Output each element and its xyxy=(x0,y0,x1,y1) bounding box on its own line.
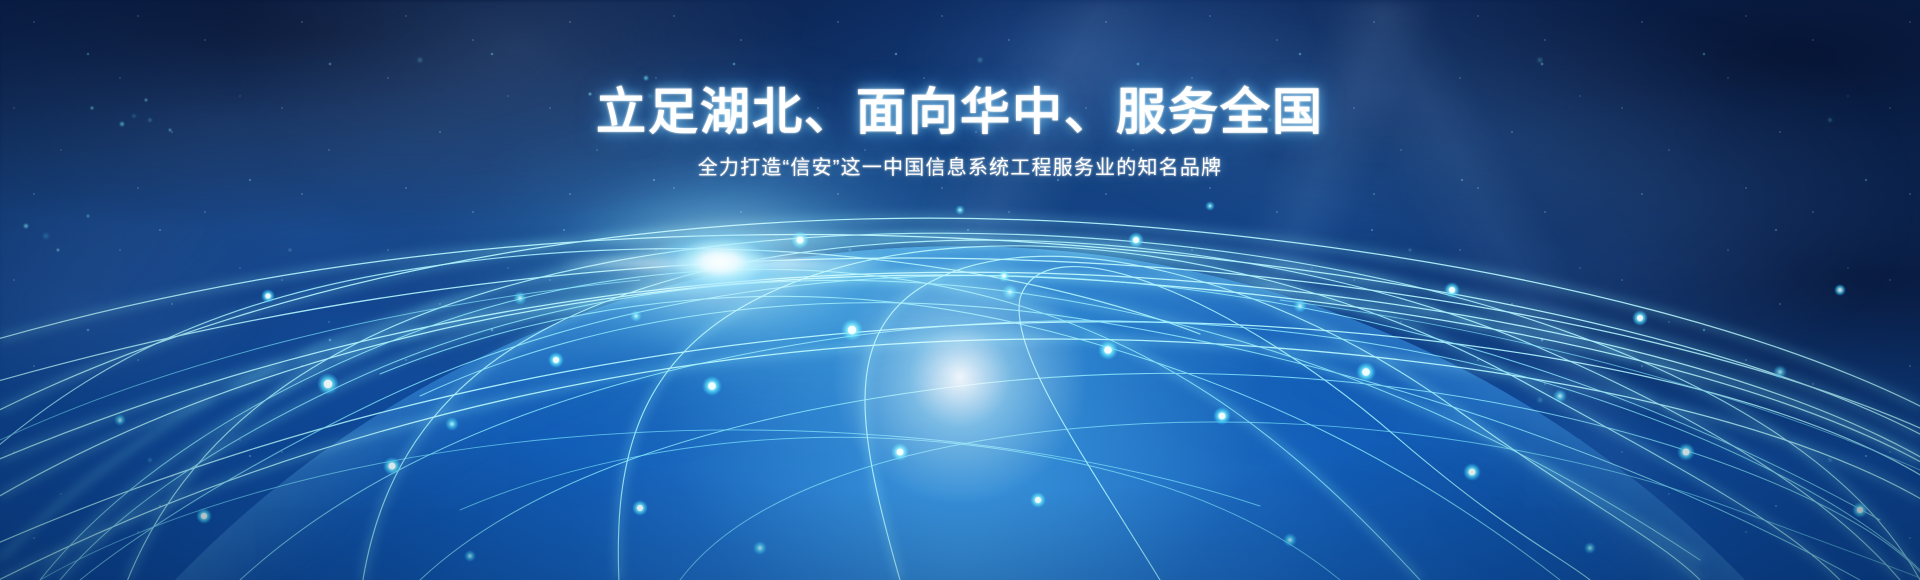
banner-headline: 立足湖北、面向华中、服务全国 xyxy=(0,84,1920,140)
banner-subtitle: 全力打造“信安”这一中国信息系统工程服务业的知名品牌 xyxy=(0,154,1920,182)
hero-banner: 立足湖北、面向华中、服务全国 全力打造“信安”这一中国信息系统工程服务业的知名品… xyxy=(0,0,1920,580)
banner-text-block: 立足湖北、面向华中、服务全国 全力打造“信安”这一中国信息系统工程服务业的知名品… xyxy=(0,84,1920,182)
center-flare-core xyxy=(650,226,790,298)
